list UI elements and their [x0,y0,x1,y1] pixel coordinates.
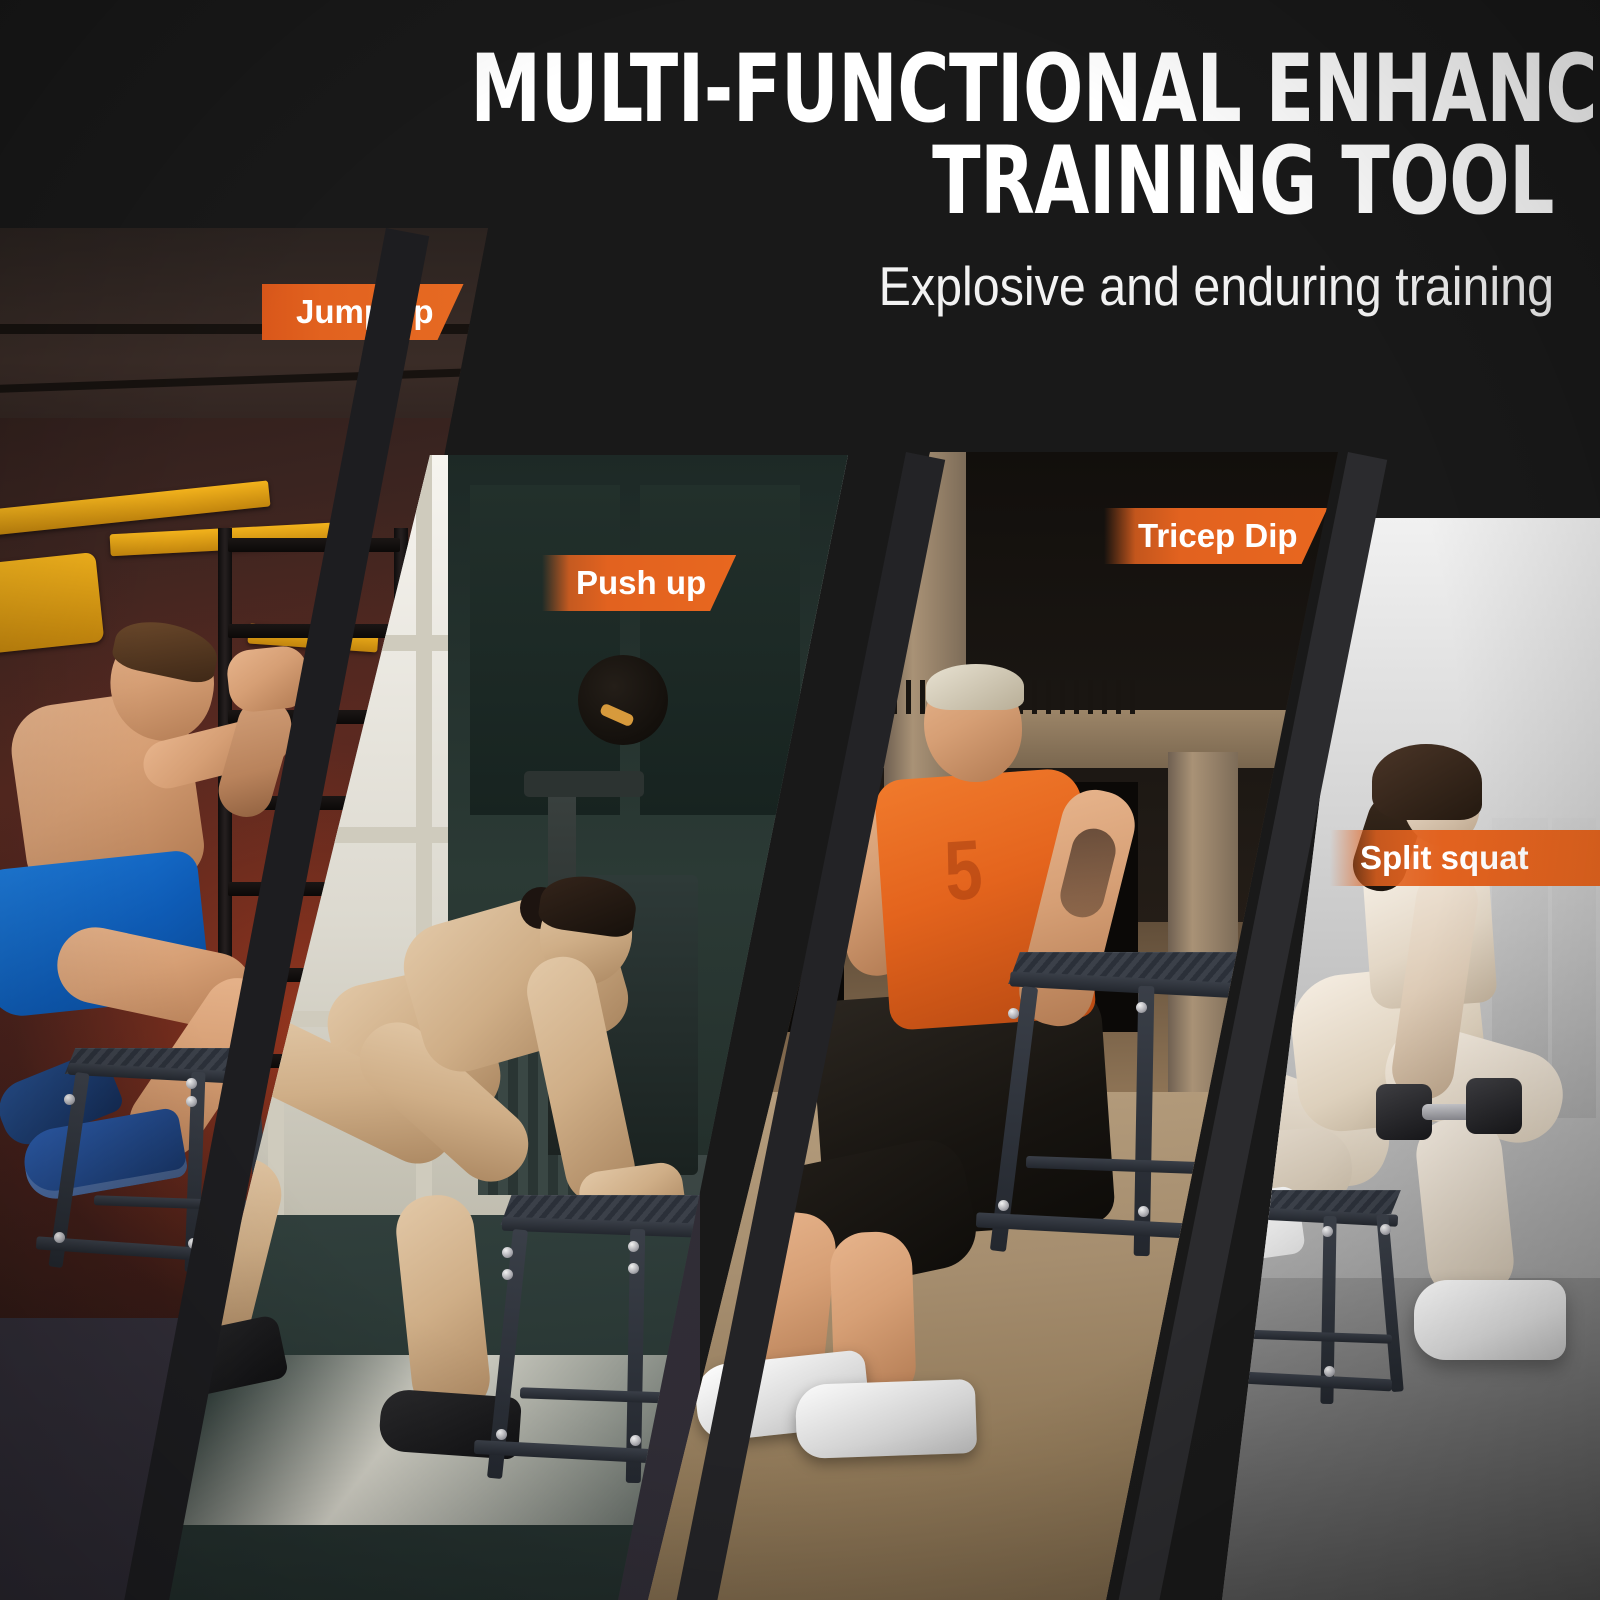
plyo-box-bolt [1380,1224,1391,1235]
page-subtitle: Explosive and enduring training [419,254,1554,318]
plyo-box-bolt [1322,1226,1333,1237]
plyo-box-bolt [1138,1206,1149,1217]
wall-clock [578,655,668,745]
plyo-box-leg [990,986,1038,1252]
plyo-box-cross-rail [1234,1329,1392,1344]
badge-label: Tricep Dip [1138,517,1298,555]
badge-jump-up: Jump up [262,284,464,340]
gym-rig-frame [0,552,104,654]
badge-tricep-dip: Tricep Dip [1104,508,1328,564]
plyo-box-bolt [628,1241,639,1252]
plyo-box-bolt [186,1096,197,1107]
plyo-box-bolt [64,1094,75,1105]
plyo-box-bolt [998,1200,1009,1211]
plyo-box-leg [1376,1214,1403,1392]
jersey-number: 5 [941,821,985,920]
plyo-box-bolt [496,1429,507,1440]
plyo-box-bolt [502,1269,513,1280]
page-title: MULTI-FUNCTIONAL ENHANCED TRAINING TOOL [470,44,1554,228]
athlete-hair [926,664,1024,710]
badge-label: Split squat [1360,839,1529,877]
badge-push-up: Push up [542,555,736,611]
athlete-shoe [795,1379,977,1459]
plyo-box-bolt [1008,1008,1019,1019]
machine-arm [524,771,644,797]
athlete-hair [1372,744,1482,820]
plyo-box-bolt [628,1263,639,1274]
plyo-box-bolt [502,1247,513,1258]
athlete-shoe [1414,1280,1566,1360]
green-panel [470,485,620,815]
plyo-box-bolt [1136,1002,1147,1013]
infographic-canvas: MULTI-FUNCTIONAL ENHANCED TRAINING TOOL … [0,0,1600,1600]
badge-label: Push up [576,564,706,602]
dumbbell [1466,1078,1522,1134]
plyo-box-bolt [186,1078,197,1089]
badge-split-squat: Split squat [1330,830,1600,886]
plyo-box-bolt [630,1435,641,1446]
wall-bar-rung [228,538,400,552]
plyo-box-bolt [54,1232,65,1243]
plyo-box-bolt [1324,1366,1335,1377]
title-line-2: TRAINING TOOL [470,136,1554,228]
green-panel [640,485,800,815]
